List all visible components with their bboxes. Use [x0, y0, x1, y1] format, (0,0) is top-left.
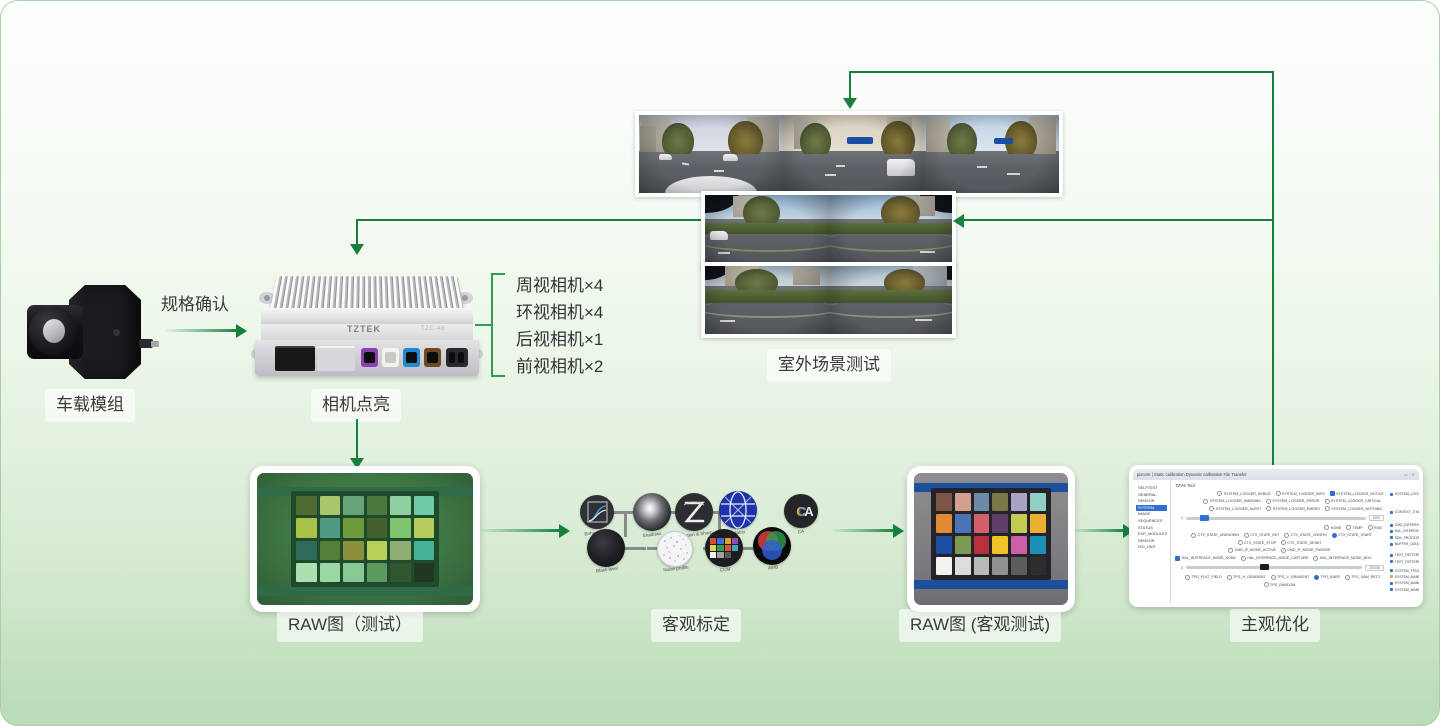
config-row: HAL_INTERFACE_MODE_NONE HAL_INTERFACE_MO…: [1175, 556, 1384, 561]
param-row[interactable]: SYSTEM_LOGGER_LEVEL: [1390, 492, 1419, 496]
patch: [390, 541, 411, 560]
patch: [1011, 557, 1027, 575]
ecu-brand-label: TZTEK: [347, 324, 381, 334]
radio-option[interactable]: SYSTEM_LOGGER_NOTHING: [1325, 506, 1382, 511]
raw-test-label: RAW图（测试）: [277, 609, 423, 642]
param-row[interactable]: TEST_PATTERN_MODE_ID: [1390, 560, 1419, 564]
radio-option[interactable]: TPG_BARS: [1314, 575, 1340, 580]
patch: [414, 563, 435, 582]
param-row[interactable]: SYSTEM_MANUAL_MAX_INTEGRATION_TIME: [1390, 581, 1419, 585]
calibration-node-distortion-icon: [675, 493, 713, 531]
patch: [320, 541, 341, 560]
patch: [1030, 557, 1046, 575]
ecu-port-blue: [403, 348, 420, 367]
ecu-port-black: [446, 348, 468, 367]
patch: [343, 496, 364, 515]
patch: [414, 541, 435, 560]
outdoor-photo-strip-top: [635, 111, 1063, 197]
bracket-spine: [491, 273, 493, 377]
patch: [343, 541, 364, 560]
ecu-feed-hline: [356, 219, 706, 221]
software-tab-label[interactable]: TZVS Tool: [1175, 483, 1194, 488]
patch: [390, 518, 411, 537]
raw-objective-colorchecker: [931, 488, 1051, 580]
raw-objective-screen: [914, 473, 1068, 605]
patch: [1030, 536, 1046, 554]
radio-option[interactable]: HAL_INTERFACE_MODE_BOX: [1313, 556, 1371, 561]
radio-option[interactable]: TPG_RANDOM: [1264, 582, 1296, 587]
sidebar-item[interactable]: SENSOR: [1136, 498, 1167, 505]
patch: [1011, 536, 1027, 554]
exposure-slider[interactable]: [1186, 517, 1366, 520]
patch: [1011, 493, 1027, 511]
patch: [955, 557, 971, 575]
software-main-panel: TZVS Tool SYSTEM_LOGGER_DEBUG SYSTEM_LOG…: [1171, 480, 1419, 603]
patch: [414, 518, 435, 537]
config-row: CTX_STATE_UNKNOWN CTX_STATE_INIT CTX_STA…: [1175, 533, 1384, 538]
colorchecker-grid: [291, 491, 439, 587]
ecu-label: 相机点亮: [311, 389, 401, 422]
raw-test-feed-vline: [356, 419, 358, 461]
ecu-harness-connector-b: [317, 346, 355, 371]
chart-bottom-bar: [257, 587, 473, 596]
slider-value[interactable]: 1000: [1369, 515, 1384, 521]
calibration-node-ccm-icon: [705, 529, 743, 567]
ecu-port-purple: [361, 348, 378, 367]
radio-option[interactable]: SYSTEM_LOGGER_WARNING: [1203, 499, 1261, 504]
radio-option[interactable]: SYSTEM_LOGGER_ALERT: [1209, 506, 1261, 511]
camera-module-image: [23, 283, 163, 383]
photo-vignette: [705, 195, 830, 265]
param-row[interactable]: HAL_INTERFACE_MODE: [1390, 529, 1419, 533]
subjective-software-window: pixcore | Static calibration Dynamic cal…: [1129, 465, 1423, 607]
outdoor-photo: [639, 115, 783, 193]
param-row[interactable]: CMD_INTERFACE_MODE: [1390, 523, 1419, 527]
radio-option[interactable]: SYSTEM_LOGGER_INFO: [1276, 491, 1325, 496]
config-row: CTX_STATE_STOP CTX_STATE_DEINIT: [1175, 540, 1384, 545]
photo-vignette: [705, 266, 830, 334]
calibration-to-raw-objective-arrow: [833, 529, 895, 532]
sidebar-item[interactable]: ISO_UNIT: [1136, 544, 1167, 551]
window-controls[interactable]: ▭ ▫ ✕: [1404, 472, 1415, 477]
feedback-vline-top: [849, 71, 851, 101]
config-row: CMD_IF_MODE_ACTIVE CMD_IF_MODE_PASSIVE: [1175, 548, 1384, 553]
feedback-hline-top: [849, 71, 1274, 73]
patch: [974, 493, 990, 511]
sidebar-item[interactable]: SELFTEST: [1136, 485, 1167, 492]
spec-confirm-arrow: [166, 329, 238, 332]
patch: [390, 563, 411, 582]
camera-count-item: 周视相机×4: [516, 272, 603, 299]
feedback-arrowhead-mid: [953, 214, 964, 228]
radio-option[interactable]: TEMP: [1346, 525, 1362, 530]
outdoor-photo-strip-middle: [701, 191, 956, 269]
patch: [343, 563, 364, 582]
integration-slider[interactable]: [1186, 566, 1362, 569]
feedback-vline-main: [1272, 71, 1274, 471]
outdoor-photo: [783, 115, 923, 193]
patch: [367, 496, 388, 515]
raw-test-to-calibration-arrowhead: [559, 524, 570, 538]
spec-confirm-label: 规格确认: [161, 296, 229, 313]
ecu-subbrand-label: TZC-A8: [421, 326, 445, 332]
sidebar-item-system[interactable]: SYSTEM: [1136, 505, 1167, 512]
config-row: SYSTEM_LOGGER_ALERT SYSTEM_LOGGER_EMERG …: [1175, 506, 1384, 511]
config-row: TPG_FLAT_FIELD TPG_H_GRADIENT TPG_V_GRAD…: [1175, 575, 1384, 580]
calibration-node-matrix-icon: [719, 491, 757, 529]
outdoor-photo-strip-bottom: [701, 262, 956, 338]
radio-option[interactable]: NONE: [1324, 525, 1341, 530]
software-sidebar: SELFTEST GENERAL SENSOR SYSTEM IMAGE SEQ…: [1133, 480, 1171, 603]
radio-option[interactable]: SYSTEM_LOGGER_ERROR: [1266, 499, 1320, 504]
photo-vignette: [783, 115, 923, 193]
software-title-text: pixcore | Static calibration Dynamic cal…: [1137, 472, 1247, 477]
raw-test-to-calibration-arrow: [479, 529, 561, 532]
radio-option[interactable]: HAL_INTERFACE_MODE_CAPTURE: [1241, 556, 1309, 561]
camera-module-label: 车载模组: [45, 389, 135, 422]
patch: [974, 557, 990, 575]
outdoor-photo: [923, 115, 1059, 193]
patch: [936, 493, 952, 511]
raw-objective-to-subjective-arrow: [1073, 529, 1125, 532]
patch: [296, 541, 317, 560]
chain-wire: [624, 547, 646, 550]
calibration-node-shadows-icon: [633, 493, 671, 531]
camera-lens: [43, 319, 65, 343]
feedback-arrowhead-top: [843, 98, 857, 109]
patch: [974, 514, 990, 532]
patch: [936, 514, 952, 532]
calibration-node-label: AWB: [759, 563, 787, 571]
patch: [936, 536, 952, 554]
radio-option[interactable]: CMD_IF_MODE_PASSIVE: [1281, 548, 1331, 553]
outdoor-photo: [705, 266, 830, 334]
ecu-port-brown: [424, 348, 441, 367]
svg-text:A: A: [804, 504, 814, 519]
patch: [367, 563, 388, 582]
patch: [1030, 493, 1046, 511]
calibration-node-awb-icon: [753, 527, 791, 565]
photo-vignette: [830, 266, 952, 334]
patch: [367, 518, 388, 537]
param-row[interactable]: SYSTEM_MANUAL_EXPOSURE: [1390, 575, 1419, 579]
photo-vignette: [830, 195, 952, 265]
camera-count-item: 前视相机×2: [516, 353, 603, 380]
patch: [414, 496, 435, 515]
chain-wire: [624, 511, 627, 537]
calibration-node-enhance-fe-icon: [580, 495, 614, 529]
patch: [992, 514, 1008, 532]
software-frame: pixcore | Static calibration Dynamic cal…: [1133, 469, 1419, 603]
calibration-node-ca-icon: CCA: [784, 494, 818, 528]
sidebar-item[interactable]: IMAGE: [1136, 511, 1167, 518]
calibration-node-label: CA: [787, 527, 815, 535]
patch: [992, 557, 1008, 575]
calibration-node-chain: Enhance FE Shadows Distortion & Sharp Ma…: [571, 489, 821, 581]
patch: [320, 496, 341, 515]
software-tab-bar[interactable]: TZVS Tool: [1175, 483, 1419, 488]
radio-option[interactable]: CTX_STATE_CONFIG: [1284, 533, 1327, 538]
param-row[interactable]: SYSTEM_FPGA_FIRMWARE: [1390, 569, 1419, 573]
bracket-stem: [475, 324, 491, 326]
ecu-feed-arrowhead: [350, 244, 364, 255]
param-row[interactable]: SYSTEM_MANUAL_PARTICLE_INFO: [1390, 588, 1419, 592]
calibration-to-raw-objective-arrowhead: [893, 524, 904, 538]
ecu-feed-vline: [356, 219, 358, 247]
param-row[interactable]: BUFFER_DATA_TYPE: [1390, 542, 1419, 546]
radio-option[interactable]: TPG_SAW_RECT: [1345, 575, 1381, 580]
patch: [390, 496, 411, 515]
radio-option[interactable]: RGB: [1368, 525, 1382, 530]
radio-option[interactable]: CMD_IF_MODE_ACTIVE: [1228, 548, 1276, 553]
raw-objective-monitor: [907, 466, 1075, 612]
patch: [367, 541, 388, 560]
radio-option[interactable]: SYSTEM_LOGGER_NOTICE: [1330, 491, 1384, 496]
raw-objective-label: RAW图 (客观测试): [899, 609, 1061, 642]
radio-option[interactable]: SYSTEM_LOGGER_CRITICAL: [1325, 499, 1382, 504]
patch: [936, 557, 952, 575]
patch: [992, 536, 1008, 554]
patch: [296, 496, 317, 515]
param-row[interactable]: SDK_PROCESS_REQUEST: [1390, 536, 1419, 540]
ecu-image: TZTEK TZC-A8: [251, 264, 483, 382]
patch: [296, 518, 317, 537]
radio-option[interactable]: TPG_FLAT_FIELD: [1185, 575, 1221, 580]
radio-option[interactable]: CTX_STATE_UNKNOWN: [1191, 533, 1239, 538]
radio-option[interactable]: SYSTEM_LOGGER_DEBUG: [1217, 491, 1270, 496]
camera-count-list: 周视相机×4 环视相机×4 后视相机×1 前视相机×2: [516, 272, 603, 380]
radio-option[interactable]: CTX_STATE_INIT: [1244, 533, 1279, 538]
patch: [343, 518, 364, 537]
radio-option[interactable]: SYSTEM_LOGGER_EMERG: [1266, 506, 1320, 511]
bracket-top-tick: [491, 273, 505, 275]
camera-count-item: 后视相机×1: [516, 326, 603, 353]
chart-bottom-bar: [914, 580, 1068, 589]
photo-vignette: [639, 115, 783, 193]
slider-min-label: 0: [1181, 566, 1183, 570]
calibration-node-noise-icon: [657, 531, 693, 567]
calibration-node-label: CCM: [711, 565, 739, 573]
calibration-label: 客观标定: [651, 609, 741, 642]
software-title-bar: pixcore | Static calibration Dynamic cal…: [1133, 469, 1419, 480]
patch: [955, 536, 971, 554]
ecu-harness-connector-a: [275, 346, 315, 371]
patch: [296, 563, 317, 582]
radio-option[interactable]: TPG_V_GRADIENT: [1271, 575, 1310, 580]
sidebar-item[interactable]: GENERAL: [1136, 492, 1167, 499]
patch: [955, 514, 971, 532]
patch: [955, 493, 971, 511]
photo-vignette: [923, 115, 1059, 193]
radio-option[interactable]: CTX_STATE_DEINIT: [1281, 540, 1321, 545]
patch: [320, 518, 341, 537]
sidebar-item[interactable]: SENSOR: [1136, 538, 1167, 545]
radio-option[interactable]: HAL_INTERFACE_MODE_NONE: [1175, 556, 1236, 561]
outdoor-photo: [705, 195, 830, 265]
config-row: SYSTEM_LOGGER_DEBUG SYSTEM_LOGGER_INFO S…: [1175, 491, 1384, 496]
outdoor-photo: [830, 266, 952, 334]
slider-value[interactable]: 257036: [1365, 565, 1384, 571]
patch: [1011, 514, 1027, 532]
radio-option[interactable]: TPG_H_GRADIENT: [1227, 575, 1266, 580]
config-row: SYSTEM_LOGGER_WARNING SYSTEM_LOGGER_ERRO…: [1175, 499, 1384, 504]
patch: [1030, 514, 1046, 532]
diagram-canvas: 车载模组 规格确认 TZTEK TZC-A8 相机点亮 周视相机×4 环视相机: [0, 0, 1440, 726]
radio-option[interactable]: CTX_STATE_STOP: [1238, 540, 1276, 545]
patch: [974, 536, 990, 554]
bracket-bottom-tick: [491, 375, 505, 377]
outdoor-photo: [830, 195, 952, 265]
outdoor-test-label: 室外场景测试: [767, 349, 891, 382]
camera-count-item: 环视相机×4: [516, 299, 603, 326]
sidebar-item[interactable]: SEQUENCES: [1136, 518, 1167, 525]
raw-test-screen: [257, 473, 473, 605]
spec-confirm-arrowhead: [236, 324, 247, 338]
raw-test-monitor: [250, 466, 480, 612]
colorchecker-grid: [931, 488, 1051, 580]
slider-min-label: 0: [1181, 516, 1183, 520]
param-row[interactable]: CONTEXT_STATE: [1390, 510, 1419, 514]
software-body: SELFTEST GENERAL SENSOR SYSTEM IMAGE SEQ…: [1133, 480, 1419, 603]
feedback-hline-mid: [963, 219, 1274, 221]
sidebar-item[interactable]: STATUS: [1136, 525, 1167, 532]
config-row: TPG_RANDOM: [1175, 582, 1384, 587]
subjective-label: 主观优化: [1230, 609, 1320, 642]
param-row[interactable]: TEST_PATTERN_ENABLE_ID: [1390, 553, 1419, 557]
camera-count-bracket: [491, 273, 507, 377]
config-row: NONE TEMP RGB: [1175, 525, 1384, 530]
radio-option[interactable]: CTX_STATE_START: [1332, 533, 1372, 538]
camera-pin: [151, 341, 159, 347]
patch: [320, 563, 341, 582]
raw-test-colorchecker: [291, 491, 439, 587]
camera-screw: [113, 329, 120, 336]
calibration-node-black-level-icon: [587, 529, 625, 567]
ecu-port-white: [382, 348, 399, 367]
sidebar-item[interactable]: EXP_MODULES: [1136, 531, 1167, 538]
patch: [992, 493, 1008, 511]
